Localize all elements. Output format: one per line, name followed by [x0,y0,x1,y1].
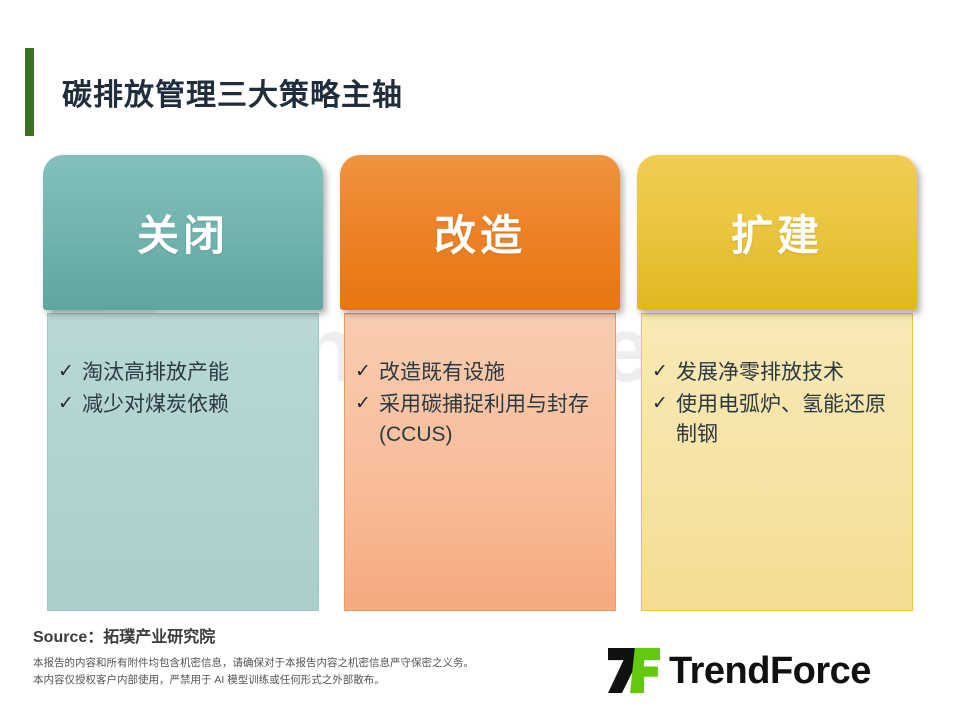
list-item: ✓ 改造既有设施 [355,358,605,388]
card-title-closure: 关闭 [137,202,229,263]
strategy-card-retrofit[interactable]: 改造 ✓ 改造既有设施 ✓ 采用碳捕捉利用与封存(CCUS) [340,155,620,611]
check-icon: ✓ [652,358,676,387]
card-header-expansion: 扩建 [637,155,917,310]
list-item-label: 减少对煤炭依赖 [82,390,308,420]
trendforce-logo-text: TrendForce [669,652,871,690]
card-header-retrofit: 改造 [340,155,620,310]
list-item: ✓ 发展净零排放技术 [652,358,902,388]
title-accent-bar [25,48,34,136]
list-item: ✓ 淘汰高排放产能 [58,358,308,388]
trendforce-logo-icon [608,648,660,693]
check-icon: ✓ [58,358,82,387]
card-title-expansion: 扩建 [731,202,823,263]
source-label: Source：拓璞产业研究院 [33,623,933,647]
strategy-card-closure[interactable]: 关闭 ✓ 淘汰高排放产能 ✓ 减少对煤炭依赖 [43,155,323,611]
list-item: ✓ 使用电弧炉、氢能还原制钢 [652,390,902,450]
page-title: 碳排放管理三大策略主轴 [25,48,403,136]
list-item-label: 发展净零排放技术 [676,358,902,388]
check-icon: ✓ [652,390,676,419]
list-item: ✓ 采用碳捕捉利用与封存(CCUS) [355,390,605,450]
strategy-cards: 关闭 ✓ 淘汰高排放产能 ✓ 减少对煤炭依赖 改造 ✓ 改造既有设施 ✓ 采用碳… [43,155,917,611]
list-item-label: 改造既有设施 [379,358,605,388]
list-item-label: 使用电弧炉、氢能还原制钢 [676,390,902,450]
card-body-closure: ✓ 淘汰高排放产能 ✓ 减少对煤炭依赖 [47,313,319,611]
trendforce-logo: TrendForce [608,648,871,693]
check-icon: ✓ [355,390,379,419]
strategy-card-expansion[interactable]: 扩建 ✓ 发展净零排放技术 ✓ 使用电弧炉、氢能还原制钢 [637,155,917,611]
logo-f-shape-icon [630,648,660,693]
check-icon: ✓ [58,390,82,419]
card-header-closure: 关闭 [43,155,323,310]
card-body-expansion: ✓ 发展净零排放技术 ✓ 使用电弧炉、氢能还原制钢 [641,313,913,611]
list-item: ✓ 减少对煤炭依赖 [58,390,308,420]
list-item-label: 采用碳捕捉利用与封存(CCUS) [379,390,605,450]
card-title-retrofit: 改造 [434,202,526,263]
list-item-label: 淘汰高排放产能 [82,358,308,388]
page-title-text: 碳排放管理三大策略主轴 [62,70,403,114]
card-body-retrofit: ✓ 改造既有设施 ✓ 采用碳捕捉利用与封存(CCUS) [344,313,616,611]
check-icon: ✓ [355,358,379,387]
